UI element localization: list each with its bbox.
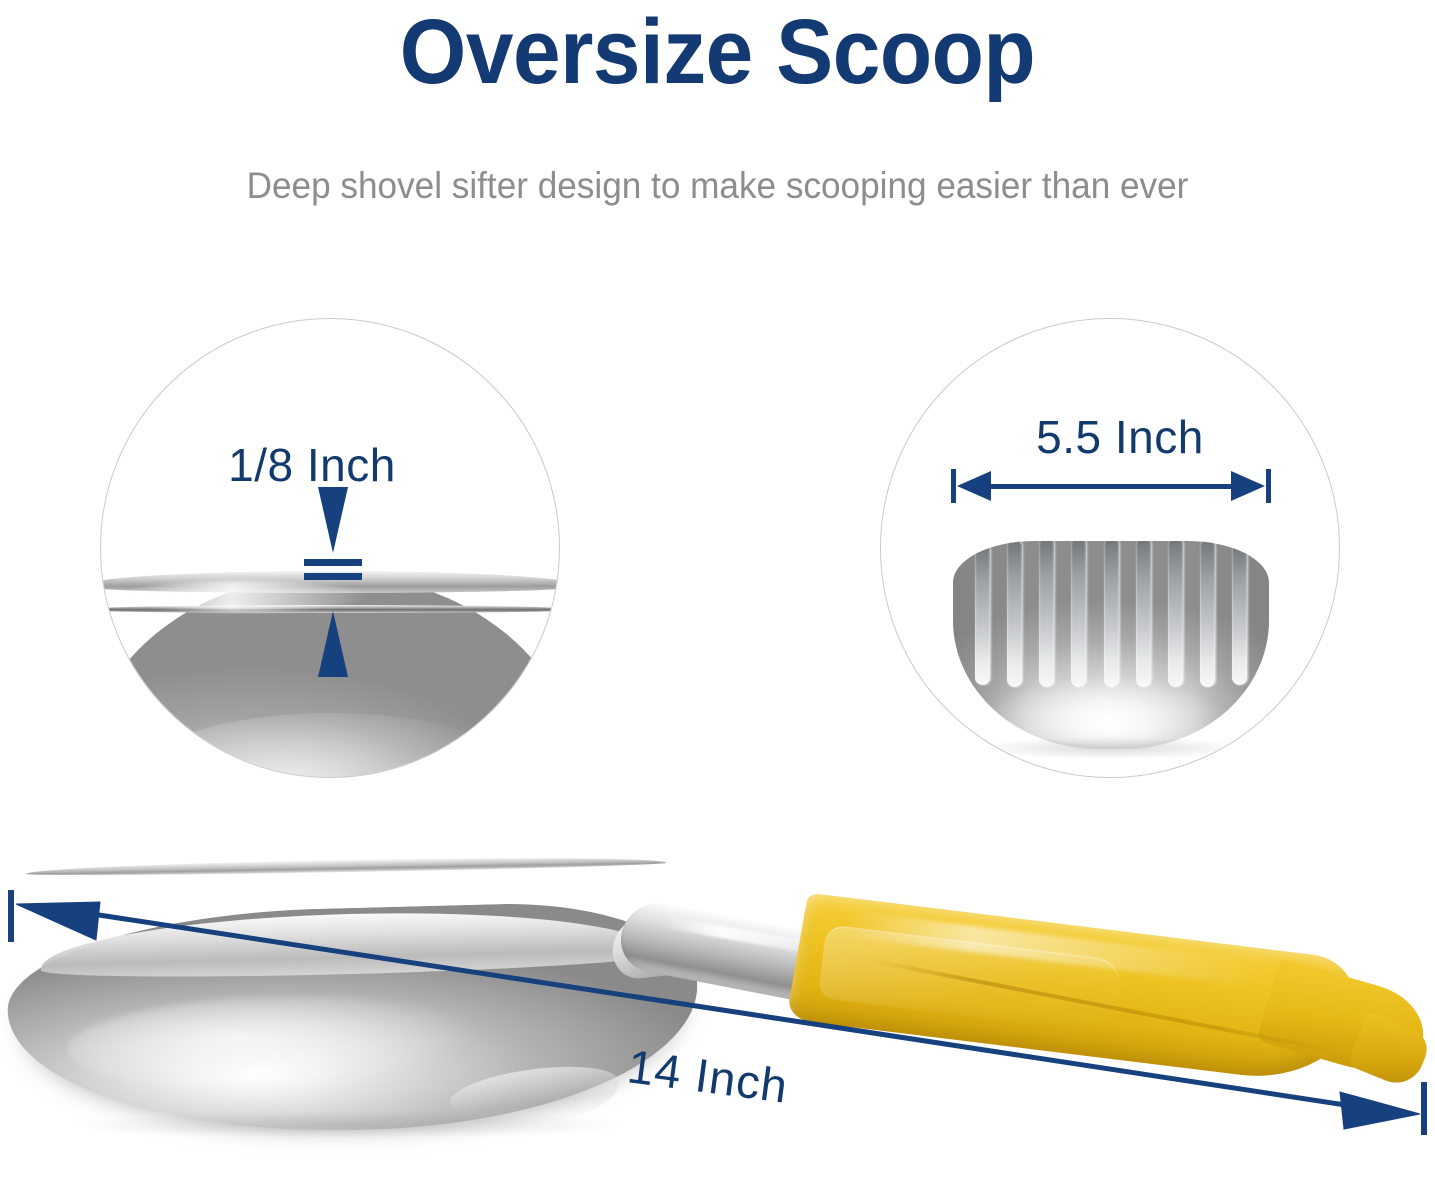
width-label: 5.5 Inch [890, 410, 1350, 464]
thickness-gauge-icon [302, 487, 364, 677]
arrow-right-icon [1231, 471, 1265, 501]
product-image [0, 830, 1435, 1189]
page-title: Oversize Scoop [50, 6, 1385, 100]
sifter-slot [1071, 541, 1086, 687]
header: Oversize Scoop Deep shovel sifter design… [0, 0, 1435, 230]
arrow-up-icon [318, 611, 348, 677]
sifter-slot [1200, 541, 1215, 687]
scoop-bowl-gloss [67, 990, 489, 1097]
scoop-bowl [5, 899, 701, 1139]
sifter-slot [1104, 541, 1119, 687]
dimension-line [977, 484, 1245, 489]
sifter-slot [1136, 541, 1151, 687]
dimension-cap-right [1266, 469, 1271, 503]
width-dimension-arrow-icon [951, 469, 1271, 503]
sifter-slot [1168, 541, 1183, 687]
page-subtitle: Deep shovel sifter design to make scoopi… [36, 165, 1399, 207]
scoop-bowl-inner-rim [39, 906, 660, 982]
sifter-slot [975, 543, 990, 685]
callout-width: 5.5 Inch [880, 318, 1340, 778]
callouts-row: 1/8 Inch [0, 300, 1435, 780]
callout-thickness: 1/8 Inch [100, 318, 560, 778]
gauge-bar-top [304, 559, 362, 566]
sifter-slot [1232, 543, 1247, 685]
slotted-scoop-head-image [881, 319, 1340, 778]
callout-circle-width [880, 318, 1340, 778]
scoop-handle [795, 926, 1415, 1076]
head-gloss [991, 674, 1231, 745]
callout-circle-thickness [100, 318, 560, 778]
thickness-label: 1/8 Inch [82, 438, 542, 492]
arrow-down-icon [318, 487, 348, 553]
sifter-slot [1039, 541, 1054, 687]
dimension-cap-left [951, 469, 956, 503]
product-drop-shadow [70, 1112, 630, 1138]
sifter-slots [975, 541, 1247, 687]
scoop-bowl-rim-edge [26, 854, 666, 877]
sifter-slot [1007, 541, 1022, 687]
head-drop-shadow [977, 737, 1245, 759]
scoop-head-body [953, 541, 1269, 749]
arrow-left-icon [957, 471, 991, 501]
gauge-bar-bottom [304, 573, 362, 580]
